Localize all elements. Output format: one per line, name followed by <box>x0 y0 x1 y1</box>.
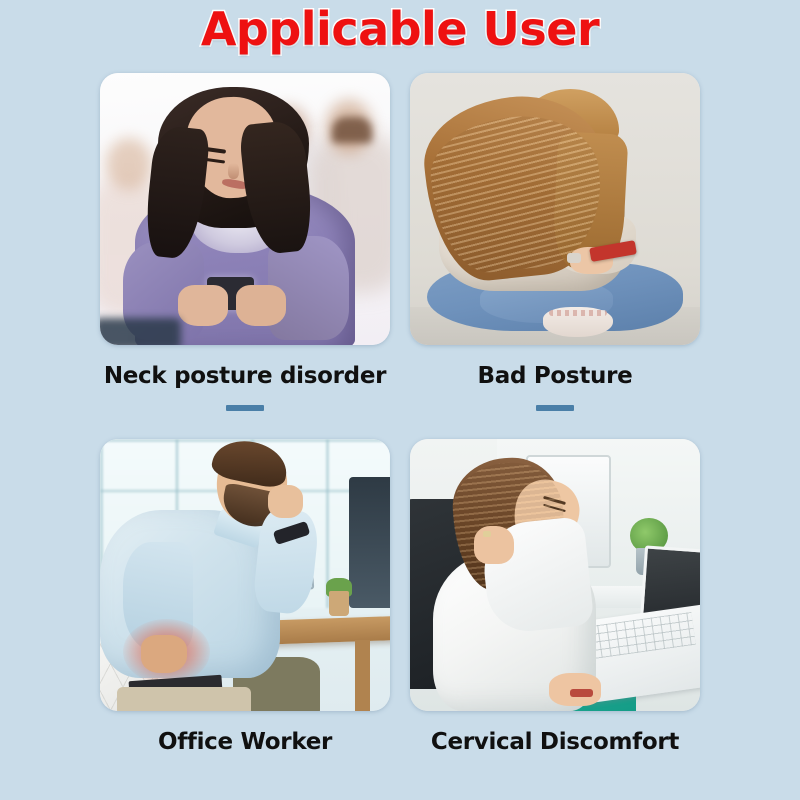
woman-right-hand <box>236 285 285 326</box>
card-caption: Bad Posture <box>410 363 700 389</box>
photo-card-bad-posture[interactable] <box>410 73 700 345</box>
girl-wristband <box>567 253 582 264</box>
card-caption: Cervical Discomfort <box>410 729 700 755</box>
woman-left-hand <box>178 285 227 326</box>
card-caption: Office Worker <box>100 729 390 755</box>
caption-accent-bar <box>536 405 574 411</box>
photo-card-cervical-discomfort[interactable] <box>410 439 700 711</box>
woman-nail-polish <box>570 689 593 697</box>
page-title: Applicable User <box>0 2 800 56</box>
man-trousers <box>117 687 250 711</box>
photo-neck-posture-disorder: om <box>100 73 390 345</box>
girl-sock-pattern <box>549 310 607 317</box>
background-figure-left-head <box>106 138 152 190</box>
card-office-worker[interactable]: Office Worker <box>100 439 390 755</box>
foreground-desk-blur <box>100 318 181 345</box>
caption-block-bad-posture: Bad Posture <box>410 345 700 411</box>
applicable-user-grid: om Nec <box>100 73 700 755</box>
photo-bad-posture <box>410 73 700 345</box>
woman-nose <box>228 163 240 179</box>
background-figure-right-hair <box>332 117 372 143</box>
man-hand-on-back <box>141 635 187 673</box>
photo-card-neck-posture-disorder[interactable]: om <box>100 73 390 345</box>
caption-accent-bar <box>226 405 264 411</box>
woman-ring <box>483 531 492 536</box>
caption-block-cervical-discomfort: Cervical Discomfort <box>410 711 700 755</box>
photo-card-office-worker[interactable] <box>100 439 390 711</box>
desk-leg <box>355 640 370 711</box>
caption-block-neck-posture-disorder: Neck posture disorder <box>100 345 390 411</box>
card-neck-posture-disorder[interactable]: om Nec <box>100 73 390 411</box>
card-caption: Neck posture disorder <box>100 363 390 389</box>
card-bad-posture[interactable]: Bad Posture <box>410 73 700 411</box>
caption-block-office-worker: Office Worker <box>100 711 390 755</box>
photo-cervical-discomfort <box>410 439 700 711</box>
photo-office-worker <box>100 439 390 711</box>
desktop-monitor <box>349 477 390 608</box>
card-cervical-discomfort[interactable]: Cervical Discomfort <box>410 439 700 755</box>
man-hand-on-forehead <box>268 485 303 518</box>
woman-hand-on-neck <box>474 526 515 564</box>
desk-plant-pot <box>329 591 349 615</box>
